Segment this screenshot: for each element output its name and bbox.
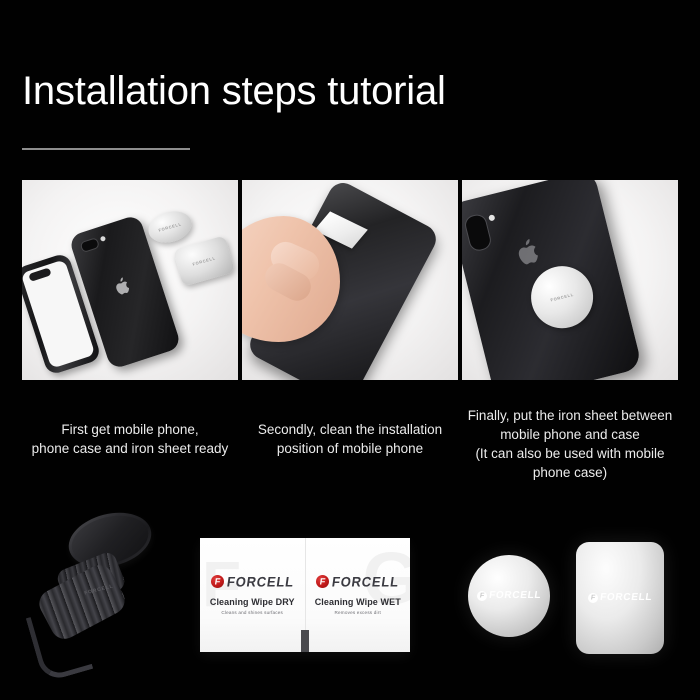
iron-sheet-round: FORCELL <box>468 555 550 637</box>
apple-logo-icon <box>514 236 544 268</box>
forcell-logo: FORCELL <box>477 591 541 601</box>
photo-backdrop <box>242 180 458 380</box>
step-caption-2: Secondly, clean the installationposition… <box>242 420 458 496</box>
forcell-badge-icon <box>477 591 487 601</box>
cleaning-wipe-wet-sachet: G FORCELL Cleaning Wipe WET Removes exce… <box>305 538 411 652</box>
page-title: Installation steps tutorial <box>22 68 446 114</box>
iron-sheet-rectangle: FORCELL <box>576 542 664 654</box>
wipe-subtitle: Cleans and shines surfaces <box>221 610 283 615</box>
iron-sheet-round-photo: FORCELL <box>525 260 600 335</box>
product-lineup-row: FORCELL F FORCELL Cleaning Wipe DRY Clea… <box>0 500 700 700</box>
forcell-logo: FORCELL <box>588 593 652 603</box>
step-photo-row: FORCELL FORCELL <box>22 180 678 380</box>
wipe-subtitle: Removes excess dirt <box>335 610 381 615</box>
forcell-wordmark: FORCELL <box>488 591 542 601</box>
forcell-wordmark: FORCELL <box>331 575 400 589</box>
iron-sheet-round-photo: FORCELL <box>145 207 196 248</box>
wipe-title: Cleaning Wipe WET <box>315 597 401 607</box>
photo-backdrop: FORCELL <box>462 180 678 380</box>
forcell-badge-icon <box>316 575 329 588</box>
iron-sheet-rect-photo: FORCELL <box>173 235 235 286</box>
case-camera-cutout <box>28 267 51 281</box>
forcell-badge-icon <box>211 575 224 588</box>
forcell-logo: FORCELL <box>211 575 294 588</box>
photo-backdrop: FORCELL FORCELL <box>22 180 238 380</box>
camera-icon <box>80 237 101 253</box>
forcell-logo-mark: FORCELL <box>158 221 182 232</box>
forcell-logo-mark: FORCELL <box>192 255 216 266</box>
phone-back-photo: FORCELL <box>462 180 643 380</box>
cleaning-wipe-dry-sachet: F FORCELL Cleaning Wipe DRY Cleans and s… <box>200 538 305 652</box>
step-photo-clean <box>242 180 458 380</box>
forcell-badge-icon <box>588 593 598 603</box>
apple-logo-icon <box>113 276 134 298</box>
forcell-wordmark: FORCELL <box>599 593 653 603</box>
forcell-logo: FORCELL <box>316 575 399 588</box>
forcell-wordmark: FORCELL <box>226 575 295 589</box>
step-caption-row: First get mobile phone,phone case and ir… <box>22 420 678 496</box>
title-underline-rule <box>22 148 190 150</box>
forcell-logo-mark: FORCELL <box>550 292 574 303</box>
wipe-title: Cleaning Wipe DRY <box>210 597 295 607</box>
product-infographic-page: Installation steps tutorial FORCELL <box>0 0 700 700</box>
step-photo-parts: FORCELL FORCELL <box>22 180 238 380</box>
cleaning-wipes-pack: F FORCELL Cleaning Wipe DRY Cleans and s… <box>200 538 410 652</box>
pack-seam <box>301 630 309 652</box>
step-photo-attach: FORCELL <box>462 180 678 380</box>
flash-icon <box>488 214 495 221</box>
step-caption-1: First get mobile phone,phone case and ir… <box>22 420 238 496</box>
step-caption-3: Finally, put the iron sheet betweenmobil… <box>462 406 678 482</box>
car-vent-magnetic-mount: FORCELL <box>30 514 180 694</box>
flash-icon <box>100 236 106 242</box>
